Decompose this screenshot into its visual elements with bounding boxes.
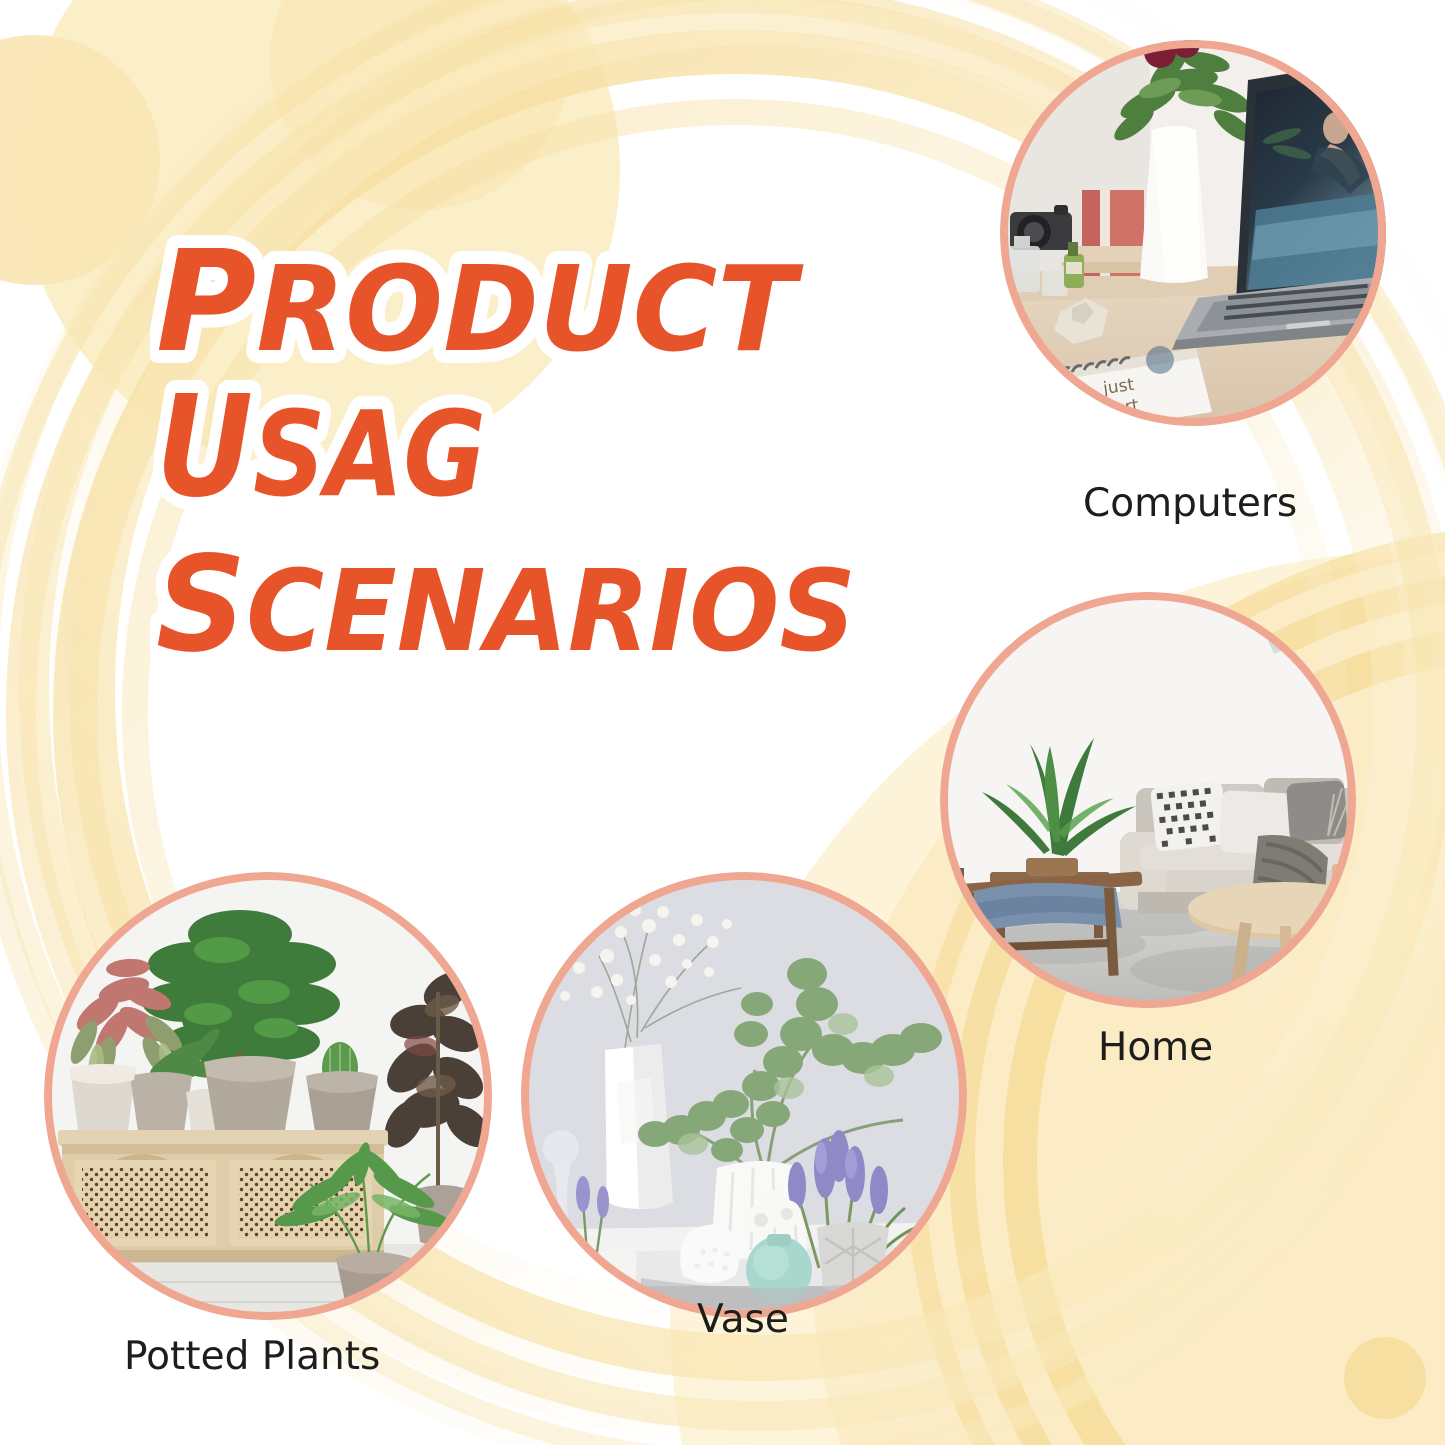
- pendant-lamp: [1266, 592, 1330, 654]
- title-line-1: PRODUCT PRODUCT: [156, 225, 804, 384]
- title-dropcap-3b: S: [156, 528, 246, 682]
- title-artwork: .tl{font-family:"DejaVu Sans","Liberatio…: [150, 225, 910, 705]
- scenario-image-vase: [521, 872, 967, 1318]
- svg-text:SCENARIOS: SCENARIOS: [156, 528, 856, 682]
- candle: [1332, 864, 1354, 908]
- title-rest-3b: CENARIOS: [246, 547, 856, 677]
- title-rest-1b: RODUCT: [256, 240, 804, 378]
- title-dropcap-2b: U: [156, 366, 253, 529]
- scenario-label-home: Home: [1098, 1025, 1213, 1070]
- home-scene: [940, 592, 1356, 1008]
- title-dropcap-1b: P: [156, 225, 256, 384]
- notebook-line-2: start: [1098, 396, 1140, 421]
- potted-plants-scene: [44, 872, 492, 1320]
- scenario-label-computers: Computers: [1083, 481, 1297, 526]
- title-line-3: SCENARIOS SCENARIOS: [156, 528, 856, 682]
- scenario-label-potted-plants: Potted Plants: [124, 1334, 380, 1379]
- page-title: .tl{font-family:"DejaVu Sans","Liberatio…: [150, 225, 910, 700]
- scenario-image-computers: just start: [1000, 40, 1386, 426]
- patterned-pillow: [1150, 780, 1228, 851]
- svg-text:PRODUCT: PRODUCT: [156, 225, 804, 384]
- scenario-image-potted-plants: [44, 872, 492, 1320]
- svg-text:USAG: USAG: [156, 366, 486, 529]
- vase-scene: [521, 872, 967, 1318]
- scenario-image-home: [940, 592, 1356, 1008]
- title-line-2: USAG USAG: [156, 366, 486, 529]
- computers-scene: just start: [1000, 40, 1386, 426]
- poster-canvas: .tl{font-family:"DejaVu Sans","Liberatio…: [0, 0, 1445, 1445]
- title-rest-2b: SAG: [253, 385, 486, 523]
- scenario-label-vase: Vase: [697, 1297, 789, 1342]
